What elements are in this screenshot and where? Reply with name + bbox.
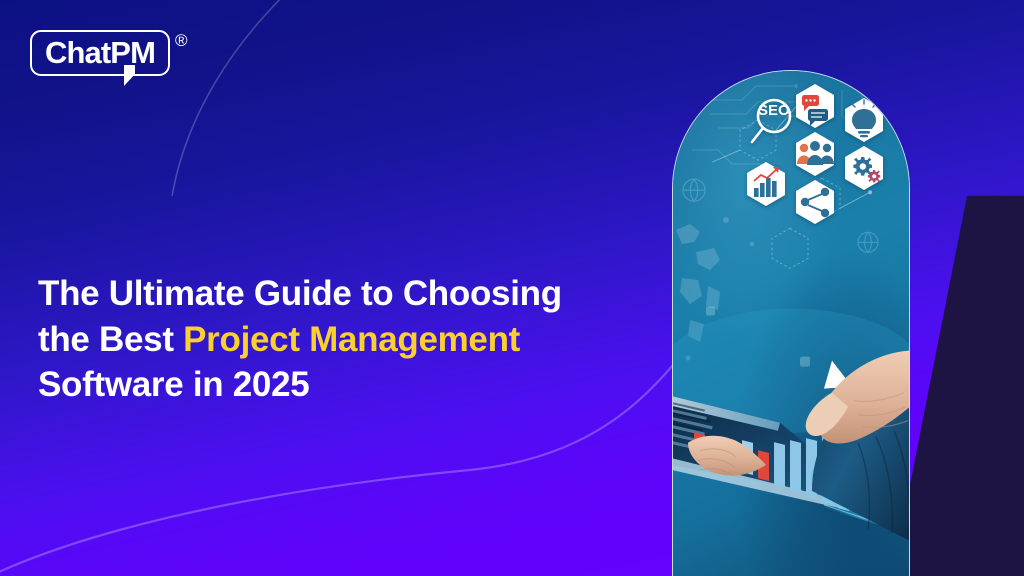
- chat-bubbles-icon: [796, 84, 834, 128]
- hero-photo: SEO: [672, 70, 910, 576]
- headline-line-2-prefix: the Best: [38, 320, 183, 359]
- share-network-icon: [796, 180, 834, 224]
- headline-highlight: Project Management: [183, 320, 520, 359]
- headline-line-3: Software in 2025: [38, 365, 309, 404]
- lightbulb-icon: [845, 98, 883, 142]
- logo-badge: ChatPM: [30, 30, 170, 76]
- logo-wordmark: ChatPM: [45, 37, 155, 68]
- registered-trademark-icon: ®: [175, 32, 188, 49]
- hexagon-icon-cluster: SEO: [740, 82, 910, 232]
- headline-line-1: The Ultimate Guide to Choosing: [38, 274, 562, 313]
- blog-banner: ChatPM ® The Ultimate Guide to Choosing …: [0, 0, 1024, 576]
- bar-chart-hex-icon: [747, 162, 785, 206]
- page-title: The Ultimate Guide to Choosing the Best …: [38, 271, 638, 406]
- speech-bubble-tail-icon: [124, 65, 135, 86]
- seo-badge-label: SEO: [758, 102, 790, 119]
- gears-icon: [845, 146, 883, 190]
- people-group-icon: [796, 132, 834, 176]
- hero-image-panel: SEO: [672, 70, 910, 576]
- decorative-arc-top: [172, 0, 300, 196]
- seo-badge: SEO: [752, 100, 790, 142]
- brand-logo[interactable]: ChatPM ®: [30, 30, 188, 76]
